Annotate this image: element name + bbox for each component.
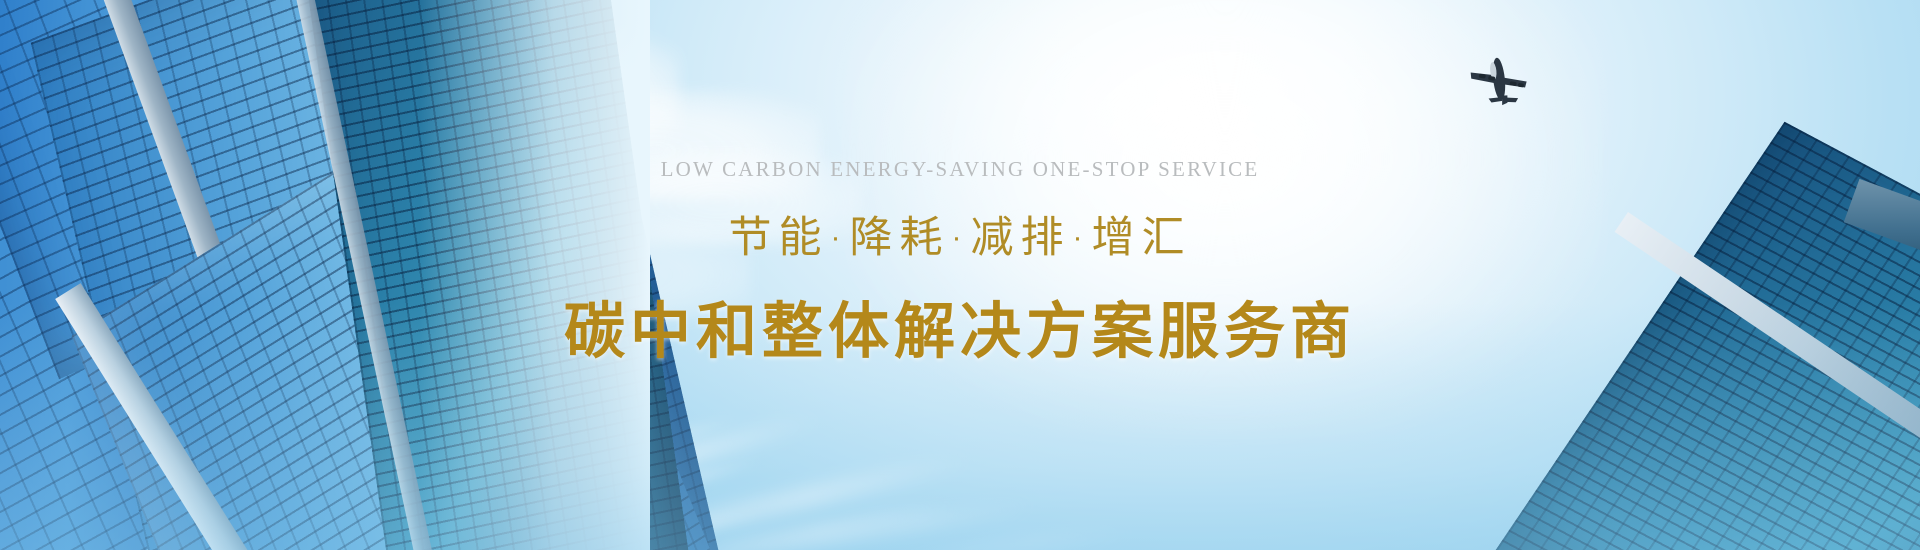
hero-banner: LOW CARBON ENERGY-SAVING ONE-STOP SERVIC… [0, 0, 1920, 550]
sky-tint-bottom [0, 0, 1920, 550]
